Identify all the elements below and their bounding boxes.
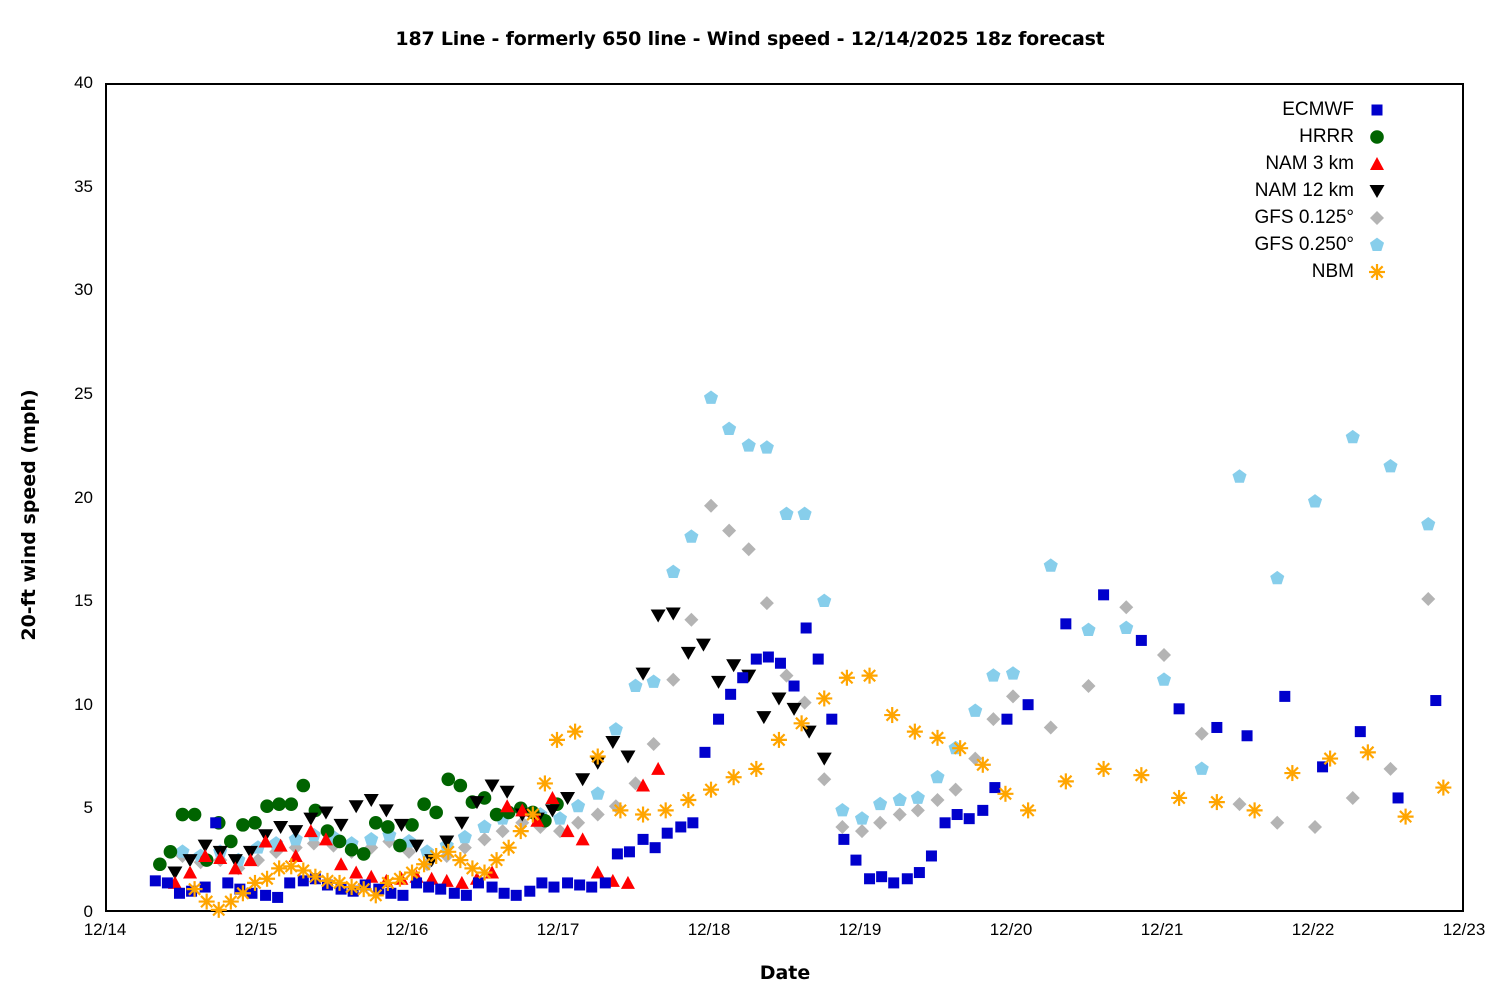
data-point: [779, 507, 793, 520]
data-point: [1044, 720, 1058, 734]
series-gfs-0-125: [176, 499, 1436, 876]
x-axis-label: Date: [105, 962, 1465, 984]
x-tick-label-8: 12/22: [1292, 920, 1335, 940]
data-point: [586, 882, 597, 893]
data-point: [1346, 791, 1360, 805]
data-point: [271, 860, 287, 876]
data-point: [699, 747, 710, 758]
data-point: [549, 732, 565, 748]
data-point: [164, 845, 178, 859]
legend-label: ECMWF: [1282, 99, 1354, 121]
data-point: [153, 857, 167, 871]
data-point: [926, 850, 937, 861]
data-point: [1435, 780, 1451, 796]
data-point: [368, 887, 384, 903]
data-point: [272, 797, 286, 811]
legend-marker-diamond-icon: [1354, 208, 1400, 228]
data-point: [1174, 703, 1185, 714]
data-point: [461, 890, 472, 901]
y-tick-label-8: 40: [74, 73, 93, 93]
data-point: [1421, 592, 1435, 606]
y-tick-label-6: 30: [74, 280, 93, 300]
data-point: [381, 820, 395, 834]
data-point: [650, 842, 661, 853]
x-tick-label-1: 12/15: [235, 920, 278, 940]
x-tick-label-3: 12/17: [537, 920, 580, 940]
data-point: [964, 813, 975, 824]
x-tick-label-9: 12/23: [1443, 920, 1486, 940]
data-point: [591, 808, 605, 822]
x-tick-label-0: 12/14: [84, 920, 127, 940]
data-point: [681, 647, 696, 660]
data-point: [562, 877, 573, 888]
data-point: [794, 715, 810, 731]
data-point: [303, 813, 318, 826]
data-point: [259, 871, 275, 887]
data-point: [968, 704, 982, 717]
data-point: [536, 877, 547, 888]
data-point: [666, 673, 680, 687]
data-point: [477, 820, 491, 833]
y-tick-label-5: 25: [74, 384, 93, 404]
data-point: [176, 808, 190, 822]
data-point: [1393, 792, 1404, 803]
data-point: [902, 873, 913, 884]
legend-item-nbm[interactable]: NBM: [1195, 258, 1400, 285]
chart-legend: ECMWFHRRRNAM 3 kmNAM 12 kmGFS 0.125°GFS …: [1195, 96, 1400, 285]
data-point: [1044, 558, 1058, 571]
data-point: [477, 865, 493, 881]
data-point: [454, 779, 468, 793]
y-axis-label: 20-ft wind speed (mph): [18, 0, 40, 930]
data-point: [666, 565, 680, 578]
data-point: [620, 750, 635, 763]
data-point: [1360, 744, 1376, 760]
data-point: [416, 856, 432, 872]
data-point: [612, 802, 628, 818]
data-point: [464, 860, 480, 876]
data-point: [862, 668, 878, 684]
data-point: [393, 839, 407, 853]
data-point: [612, 848, 623, 859]
data-point: [940, 817, 951, 828]
data-point: [1209, 794, 1225, 810]
y-tick-label-1: 5: [84, 798, 93, 818]
data-point: [977, 805, 988, 816]
data-point: [801, 622, 812, 633]
data-point: [591, 866, 605, 879]
data-point: [1430, 695, 1441, 706]
data-point: [893, 808, 907, 822]
data-point: [835, 803, 849, 816]
data-point: [334, 857, 348, 870]
data-point: [150, 875, 161, 886]
data-point: [567, 724, 583, 740]
data-point: [704, 499, 718, 513]
data-point: [248, 816, 262, 830]
legend-item-nam-3-km[interactable]: NAM 3 km: [1195, 150, 1400, 177]
data-point: [1119, 600, 1133, 614]
data-point: [260, 799, 274, 813]
data-point: [1006, 689, 1020, 703]
data-point: [284, 877, 295, 888]
data-point: [722, 422, 736, 435]
data-point: [1157, 648, 1171, 662]
data-point: [397, 890, 408, 901]
data-point: [404, 865, 420, 881]
data-point: [357, 847, 371, 861]
data-point: [345, 843, 359, 857]
legend-label: NBM: [1312, 261, 1354, 283]
data-point: [624, 846, 635, 857]
legend-label: GFS 0.250°: [1255, 234, 1354, 256]
x-tick-label-6: 12/20: [990, 920, 1033, 940]
data-point: [1232, 469, 1246, 482]
data-point: [1006, 666, 1020, 679]
data-point: [369, 816, 383, 830]
data-point: [478, 832, 492, 846]
data-point: [501, 840, 517, 856]
data-point: [417, 797, 431, 811]
data-point: [635, 807, 651, 823]
data-point: [789, 681, 800, 692]
data-point: [817, 594, 831, 607]
x-tick-label-2: 12/16: [386, 920, 429, 940]
data-point: [1133, 767, 1149, 783]
data-point: [600, 877, 611, 888]
data-point: [1020, 802, 1036, 818]
data-point: [907, 724, 923, 740]
data-point: [452, 852, 468, 868]
data-point: [651, 610, 666, 623]
data-point: [319, 873, 335, 889]
legend-item-gfs-0-250[interactable]: GFS 0.250°: [1195, 231, 1400, 258]
y-tick-label-7: 35: [74, 177, 93, 197]
data-point: [1346, 430, 1360, 443]
data-point: [748, 761, 764, 777]
chart-title: 187 Line - formerly 650 line - Wind spee…: [0, 28, 1500, 50]
legend-marker-pentagon-icon: [1354, 235, 1400, 255]
data-point: [1136, 635, 1147, 646]
y-tick-label-4: 20: [74, 488, 93, 508]
data-point: [751, 654, 762, 665]
data-point: [873, 797, 887, 810]
data-point: [458, 830, 472, 843]
data-point: [713, 714, 724, 725]
data-point: [1195, 727, 1209, 741]
data-point: [334, 819, 349, 832]
data-point: [487, 882, 498, 893]
data-point: [628, 679, 642, 692]
data-point: [975, 757, 991, 773]
data-point: [490, 808, 504, 822]
data-point: [658, 802, 674, 818]
data-point: [500, 799, 514, 812]
data-point: [349, 800, 364, 813]
x-tick-label-4: 12/18: [688, 920, 731, 940]
data-point: [576, 832, 590, 845]
data-point: [574, 879, 585, 890]
data-point: [986, 712, 1000, 726]
data-point: [666, 607, 681, 620]
data-point: [1383, 459, 1397, 472]
data-point: [1060, 618, 1071, 629]
data-point: [742, 438, 756, 451]
legend-marker-asterisk-icon: [1354, 262, 1400, 282]
data-point: [590, 748, 606, 764]
chart-canvas: 187 Line - formerly 650 line - Wind spee…: [0, 0, 1500, 1000]
data-point: [199, 894, 215, 910]
data-point: [737, 672, 748, 683]
data-point: [364, 794, 379, 807]
data-point: [930, 730, 946, 746]
data-point: [696, 639, 711, 652]
data-point: [725, 689, 736, 700]
data-point: [703, 782, 719, 798]
data-point: [675, 821, 686, 832]
legend-label: HRRR: [1299, 126, 1354, 148]
data-point: [1421, 517, 1435, 530]
data-point: [756, 711, 771, 724]
data-point: [651, 762, 665, 775]
data-point: [930, 770, 944, 783]
data-point: [798, 507, 812, 520]
legend-marker-square-icon: [1354, 100, 1400, 120]
data-point: [499, 888, 510, 899]
data-point: [760, 596, 774, 610]
data-point: [952, 740, 968, 756]
data-point: [333, 835, 347, 849]
legend-item-nam-12-km[interactable]: NAM 12 km: [1195, 177, 1400, 204]
data-point: [850, 855, 861, 866]
data-point: [222, 877, 233, 888]
y-tick-label-0: 0: [84, 902, 93, 922]
data-point: [1171, 790, 1187, 806]
data-point: [591, 786, 605, 799]
data-point: [662, 828, 673, 839]
data-point: [223, 894, 239, 910]
x-tick-label-5: 12/19: [839, 920, 882, 940]
data-point: [429, 806, 443, 820]
data-point: [236, 818, 250, 832]
data-point: [260, 890, 271, 901]
data-point: [571, 799, 585, 812]
data-point: [284, 797, 298, 811]
data-point: [621, 876, 635, 889]
data-point: [722, 524, 736, 538]
data-point: [817, 772, 831, 786]
data-point: [1023, 699, 1034, 710]
data-point: [802, 726, 817, 739]
data-point: [839, 670, 855, 686]
data-point: [200, 882, 211, 893]
data-point: [989, 782, 1000, 793]
data-point: [680, 792, 696, 808]
data-point: [787, 703, 802, 716]
data-point: [647, 674, 661, 687]
data-point: [864, 873, 875, 884]
data-point: [187, 881, 203, 897]
data-point: [1308, 494, 1322, 507]
data-point: [888, 877, 899, 888]
data-point: [638, 834, 649, 845]
data-point: [548, 882, 559, 893]
data-point: [423, 882, 434, 893]
data-point: [1058, 773, 1074, 789]
legend-marker-triangle-down-icon: [1354, 181, 1400, 201]
data-point: [449, 888, 460, 899]
data-point: [162, 877, 173, 888]
data-point: [496, 824, 510, 838]
data-point: [1082, 679, 1096, 693]
data-point: [817, 753, 832, 766]
data-point: [1308, 820, 1322, 834]
data-point: [997, 786, 1013, 802]
data-point: [816, 690, 832, 706]
data-point: [949, 783, 963, 797]
legend-label: NAM 12 km: [1255, 180, 1354, 202]
series-ecmwf: [150, 589, 1441, 903]
data-point: [986, 668, 1000, 681]
data-point: [1119, 621, 1133, 634]
data-point: [876, 871, 887, 882]
data-point: [771, 732, 787, 748]
data-point: [835, 820, 849, 834]
data-point: [1001, 714, 1012, 725]
data-point: [813, 654, 824, 665]
data-point: [428, 848, 444, 864]
data-point: [235, 885, 251, 901]
data-point: [726, 659, 741, 672]
legend-item-gfs-0-125[interactable]: GFS 0.125°: [1195, 204, 1400, 231]
data-point: [489, 852, 505, 868]
data-point: [775, 658, 786, 669]
data-point: [884, 707, 900, 723]
data-point: [485, 780, 500, 793]
data-point: [500, 786, 515, 799]
data-point: [364, 832, 378, 845]
data-point: [1279, 691, 1290, 702]
data-point: [380, 875, 396, 891]
data-point: [763, 652, 774, 663]
legend-marker-triangle-up-icon: [1354, 154, 1400, 174]
y-tick-label-2: 10: [74, 695, 93, 715]
legend-label: NAM 3 km: [1265, 153, 1354, 175]
data-point: [704, 391, 718, 404]
data-point: [440, 844, 456, 860]
data-point: [1242, 730, 1253, 741]
data-point: [605, 736, 620, 749]
data-point: [188, 808, 202, 822]
legend-label: GFS 0.125°: [1255, 207, 1354, 229]
data-point: [726, 769, 742, 785]
data-point: [1211, 722, 1222, 733]
data-point: [771, 692, 786, 705]
data-point: [349, 866, 363, 879]
data-point: [687, 817, 698, 828]
data-point: [855, 824, 869, 838]
data-point: [297, 779, 311, 793]
data-point: [441, 772, 455, 786]
data-point: [1322, 751, 1338, 767]
legend-item-ecmwf[interactable]: ECMWF: [1195, 96, 1400, 123]
data-point: [1098, 589, 1109, 600]
data-point: [742, 542, 756, 556]
data-point: [838, 834, 849, 845]
data-point: [473, 877, 484, 888]
data-point: [553, 811, 567, 824]
data-point: [332, 875, 348, 891]
data-point: [247, 875, 263, 891]
data-point: [307, 869, 323, 885]
data-point: [1233, 797, 1247, 811]
data-point: [1384, 762, 1398, 776]
data-point: [826, 714, 837, 725]
y-tick-label-3: 15: [74, 591, 93, 611]
data-point: [1270, 571, 1284, 584]
data-point: [283, 858, 299, 874]
data-point: [211, 902, 227, 918]
data-point: [684, 529, 698, 542]
data-point: [1157, 672, 1171, 685]
y-axis-label-text: 20-ft wind speed (mph): [18, 100, 40, 930]
data-point: [609, 722, 623, 735]
data-point: [911, 791, 925, 804]
data-point: [379, 804, 394, 817]
data-point: [1096, 761, 1112, 777]
data-point: [344, 879, 360, 895]
data-point: [454, 817, 469, 830]
data-point: [1355, 726, 1366, 737]
data-point: [873, 816, 887, 830]
data-point: [760, 440, 774, 453]
data-point: [435, 884, 446, 895]
data-point: [914, 867, 925, 878]
data-point: [210, 817, 221, 828]
data-point: [931, 793, 945, 807]
data-point: [174, 888, 185, 899]
data-point: [1270, 816, 1284, 830]
legend-marker-circle-icon: [1354, 127, 1400, 147]
data-point: [684, 613, 698, 627]
data-point: [524, 886, 535, 897]
legend-item-hrrr[interactable]: HRRR: [1195, 123, 1400, 150]
data-point: [273, 821, 288, 834]
data-point: [511, 890, 522, 901]
data-point: [647, 737, 661, 751]
data-point: [1247, 802, 1263, 818]
data-point: [571, 816, 585, 830]
data-point: [893, 793, 907, 806]
data-point: [911, 803, 925, 817]
data-point: [798, 696, 812, 710]
data-point: [711, 676, 726, 689]
data-point: [855, 811, 869, 824]
data-point: [537, 775, 553, 791]
data-point: [272, 892, 283, 903]
data-point: [455, 876, 469, 889]
data-point: [1398, 809, 1414, 825]
data-point: [513, 823, 529, 839]
data-point: [1195, 762, 1209, 775]
data-point: [1284, 765, 1300, 781]
data-point: [183, 866, 197, 879]
data-point: [575, 773, 590, 786]
x-tick-label-7: 12/21: [1141, 920, 1184, 940]
data-point: [952, 809, 963, 820]
data-point: [1081, 623, 1095, 636]
data-point: [525, 807, 541, 823]
